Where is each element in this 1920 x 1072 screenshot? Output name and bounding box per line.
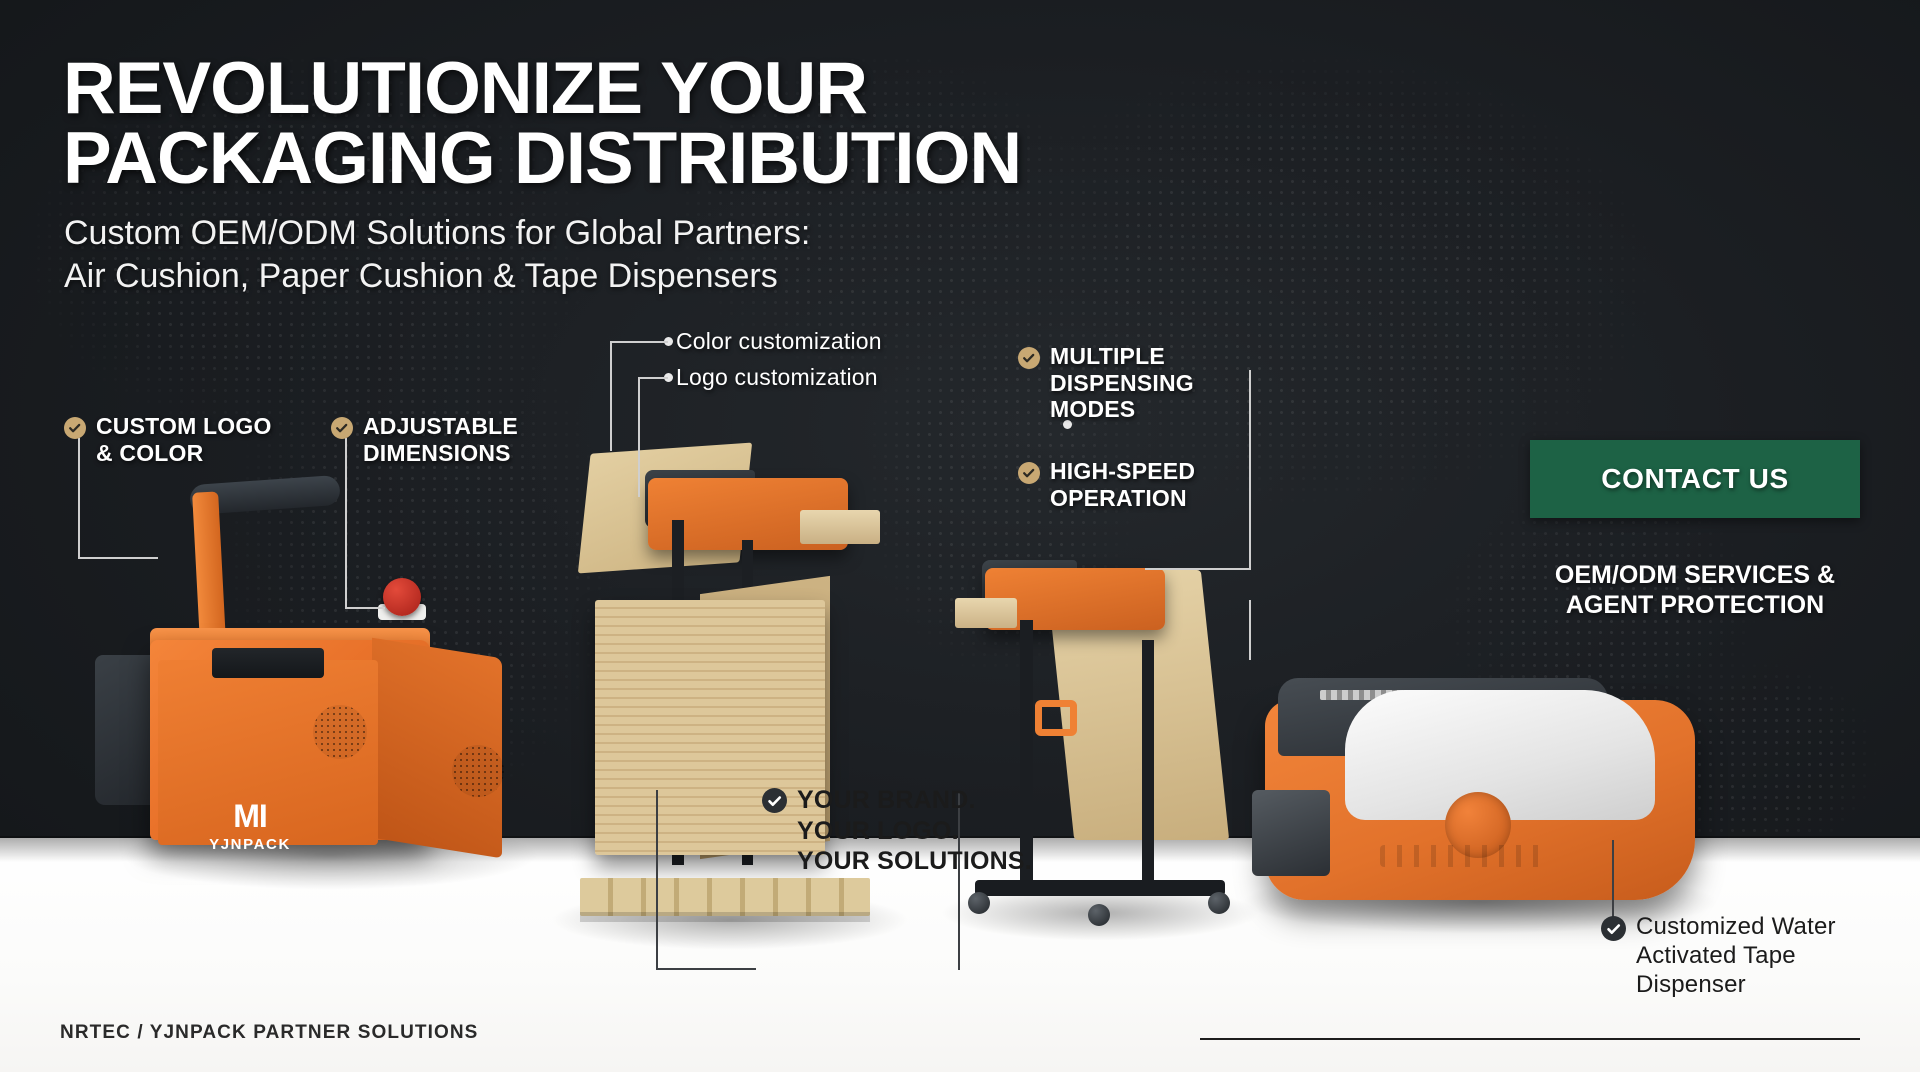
- connector-custom-logo-horizontal: [78, 557, 158, 559]
- check-icon: [1018, 347, 1040, 369]
- callout-label: Customized Water Activated Tape Dispense…: [1636, 913, 1836, 999]
- wooden-pallet: [580, 878, 870, 916]
- cta-subtitle: OEM/ODM SERVICES & AGENT PROTECTION: [1520, 560, 1870, 620]
- callout-your-brand-your-logo: YOUR BRAND. YOUR LOGO. YOUR SOLUTIONS.: [762, 785, 1032, 877]
- check-icon: [64, 417, 86, 439]
- promotional-banner: REVOLUTIONIZE YOUR PACKAGING DISTRIBUTIO…: [0, 0, 1920, 1072]
- callout-multiple-dispensing-modes: MULTIPLE DISPENSING MODES: [1018, 343, 1194, 423]
- caster-wheel: [968, 892, 990, 914]
- callout-label: MULTIPLE DISPENSING MODES: [1050, 343, 1194, 423]
- connector-multiple-vertical: [1249, 370, 1251, 570]
- callout-label: Logo customization: [676, 364, 878, 391]
- callout-custom-logo-color: CUSTOM LOGO & COLOR: [64, 413, 272, 466]
- caster-wheel: [1088, 904, 1110, 926]
- emergency-stop-button[interactable]: [383, 578, 421, 616]
- connector-multiple-horizontal: [1145, 568, 1251, 570]
- connector-logo-vertical: [638, 377, 640, 497]
- connector-highspeed-vertical: [1249, 600, 1251, 660]
- footer-brand-text: NRTEC / YJNPACK PARTNER SOLUTIONS: [60, 1022, 478, 1044]
- subheadline: Custom OEM/ODM Solutions for Global Part…: [64, 212, 1064, 298]
- connector-tape-vertical: [1612, 840, 1614, 920]
- caster-wheel: [1208, 892, 1230, 914]
- machine-1-output-slot: [212, 648, 324, 678]
- wooden-pallet-shadow: [580, 912, 870, 922]
- callout-customized-water-activated-tape: Customized Water Activated Tape Dispense…: [1601, 913, 1836, 999]
- callout-label: ADJUSTABLE DIMENSIONS: [363, 413, 518, 466]
- machine-3-paper-output: [955, 598, 1017, 628]
- headline-line-1: REVOLUTIONIZE YOUR: [63, 48, 867, 129]
- machine-1-vent-grille: [313, 705, 367, 759]
- machine-4-water-tank: [1252, 790, 1330, 876]
- callout-label: CUSTOM LOGO & COLOR: [96, 413, 272, 466]
- brand-mark: MI: [190, 800, 310, 832]
- callout-label: HIGH-SPEED OPERATION: [1050, 458, 1195, 511]
- check-icon: [331, 417, 353, 439]
- machine-3-base-bar: [975, 880, 1225, 896]
- headline-line-2: PACKAGING DISTRIBUTION: [63, 124, 1243, 194]
- check-icon: [1601, 916, 1626, 941]
- connector-brand-vertical-up: [656, 790, 658, 970]
- callout-logo-customization: Logo customization: [676, 364, 878, 391]
- connector-adjustable-horizontal: [345, 607, 385, 609]
- page-title: REVOLUTIONIZE YOUR PACKAGING DISTRIBUTIO…: [63, 54, 1243, 194]
- machine-1-vent-grille-2: [452, 745, 504, 797]
- callout-color-customization: Color customization: [676, 328, 882, 355]
- connector-color-vertical: [610, 341, 612, 451]
- machine-1-brand-logo: MI YJNPACK: [190, 800, 310, 853]
- connector-color-horizontal: [610, 341, 668, 343]
- machine-2-paper-output: [800, 510, 880, 544]
- callout-label: Color customization: [676, 328, 882, 355]
- footer-rule: [1200, 1038, 1860, 1040]
- machine-1-side-panel: [95, 655, 157, 805]
- callout-adjustable-dimensions: ADJUSTABLE DIMENSIONS: [331, 413, 518, 466]
- machine-3-orange-clip: [1035, 700, 1077, 736]
- connector-logo-horizontal: [638, 377, 668, 379]
- callout-high-speed-operation: HIGH-SPEED OPERATION: [1018, 458, 1195, 511]
- contact-us-button[interactable]: CONTACT US: [1530, 440, 1860, 518]
- check-icon: [1018, 462, 1040, 484]
- brand-name: YJNPACK: [190, 836, 310, 853]
- contact-us-label: CONTACT US: [1601, 463, 1788, 495]
- connector-brand-horizontal: [656, 968, 756, 970]
- callout-label: YOUR BRAND. YOUR LOGO. YOUR SOLUTIONS.: [797, 785, 1032, 877]
- check-icon: [762, 788, 787, 813]
- machine-4-base-ribs: [1380, 845, 1550, 867]
- machine-3-post-right: [1142, 640, 1154, 890]
